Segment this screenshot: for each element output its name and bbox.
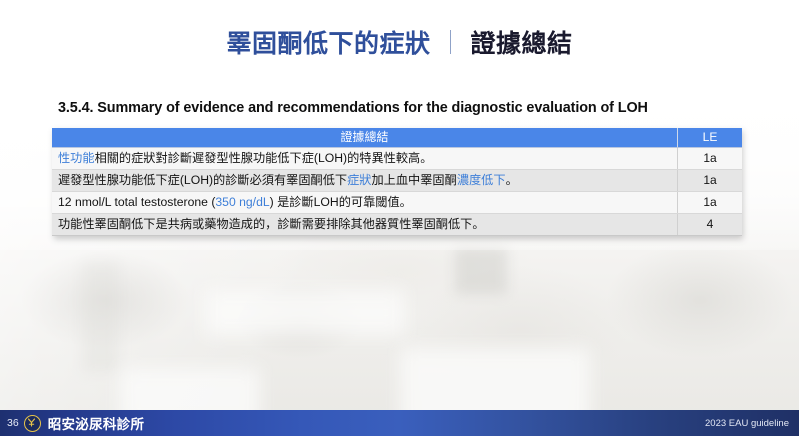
cell-le: 4 <box>678 214 743 236</box>
table-row: 性功能相關的症狀對診斷遲發型性腺功能低下症(LOH)的特異性較高。1a <box>52 148 742 170</box>
source-citation: 2023 EAU guideline <box>705 418 789 429</box>
page-number: 36 <box>7 418 19 429</box>
title-separator: ｜ <box>439 30 463 57</box>
evidence-table: 證據總結 LE 性功能相關的症狀對診斷遲發型性腺功能低下症(LOH)的特異性較高… <box>52 128 742 236</box>
clinic-name: 昭安泌尿科診所 <box>48 413 145 433</box>
cell-le: 1a <box>678 170 743 192</box>
highlighted-term: 濃度低下 <box>457 173 506 187</box>
clinic-logo-icon <box>24 415 41 432</box>
statement-text: 加上血中睪固酮 <box>372 173 457 187</box>
cell-statement: 遲發型性腺功能低下症(LOH)的診斷必須有睪固酮低下症狀加上血中睪固酮濃度低下。 <box>52 170 678 192</box>
highlighted-term: 性功能 <box>58 151 95 165</box>
statement-text: 功能性睪固酮低下是共病或藥物造成的，診斷需要排除其他器質性睪固酮低下。 <box>58 217 485 231</box>
highlighted-term: 症狀 <box>347 173 371 187</box>
statement-text: ) 是診斷LOH的可靠閾值。 <box>270 195 412 209</box>
cell-le: 1a <box>678 192 743 214</box>
statement-text: 12 nmol/L total testosterone ( <box>58 195 215 209</box>
evidence-table-container: 證據總結 LE 性功能相關的症狀對診斷遲發型性腺功能低下症(LOH)的特異性較高… <box>52 128 741 236</box>
slide-title: 睪固酮低下的症狀｜證據總結 <box>0 24 799 60</box>
title-primary: 睪固酮低下的症狀 <box>226 30 430 58</box>
footer-bar: 36 昭安泌尿科診所 2023 EAU guideline <box>0 410 799 436</box>
column-header-le: LE <box>678 128 743 148</box>
cell-le: 1a <box>678 148 743 170</box>
slide-canvas: 睪固酮低下的症狀｜證據總結 3.5.4. Summary of evidence… <box>0 0 799 436</box>
table-header-row: 證據總結 LE <box>52 128 742 148</box>
statement-text: 相關的症狀對診斷遲發型性腺功能低下症(LOH)的特異性較高。 <box>95 151 433 165</box>
section-heading: 3.5.4. Summary of evidence and recommend… <box>58 100 648 116</box>
table-row: 功能性睪固酮低下是共病或藥物造成的，診斷需要排除其他器質性睪固酮低下。4 <box>52 214 742 236</box>
column-header-statement: 證據總結 <box>52 128 678 148</box>
statement-text: 遲發型性腺功能低下症(LOH)的診斷必須有睪固酮低下 <box>58 173 347 187</box>
statement-text: 。 <box>506 173 518 187</box>
title-secondary: 證據總結 <box>471 30 573 58</box>
table-row: 遲發型性腺功能低下症(LOH)的診斷必須有睪固酮低下症狀加上血中睪固酮濃度低下。… <box>52 170 742 192</box>
highlighted-term: 350 ng/dL <box>215 195 269 209</box>
cell-statement: 12 nmol/L total testosterone (350 ng/dL)… <box>52 192 678 214</box>
cell-statement: 性功能相關的症狀對診斷遲發型性腺功能低下症(LOH)的特異性較高。 <box>52 148 678 170</box>
cell-statement: 功能性睪固酮低下是共病或藥物造成的，診斷需要排除其他器質性睪固酮低下。 <box>52 214 678 236</box>
table-body: 性功能相關的症狀對診斷遲發型性腺功能低下症(LOH)的特異性較高。1a遲發型性腺… <box>52 148 742 236</box>
table-row: 12 nmol/L total testosterone (350 ng/dL)… <box>52 192 742 214</box>
table-head: 證據總結 LE <box>52 128 742 148</box>
